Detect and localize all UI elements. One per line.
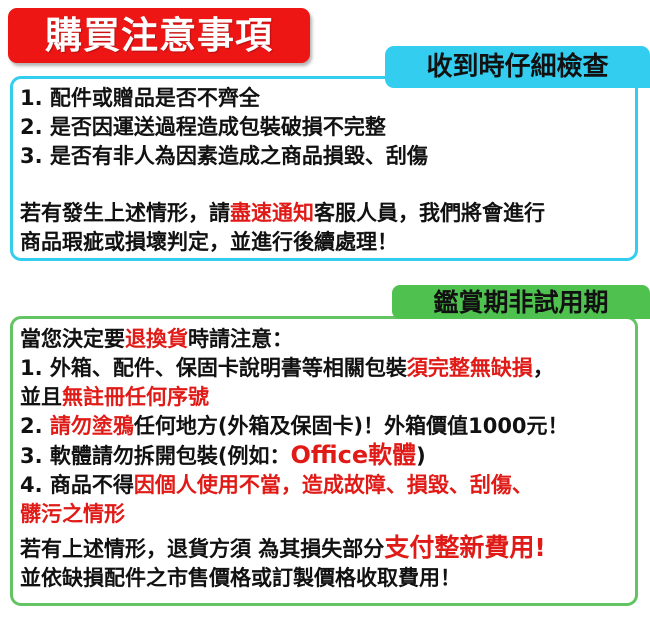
return-section-tab-label: 鑑賞期非試用期: [433, 290, 608, 315]
return-item3-text-a: 3. 軟體請勿拆開包裝(例如：: [20, 444, 291, 468]
return-item4-highlight: 因個人使用不當，造成故障、損毀、刮傷、: [134, 473, 533, 497]
list-item: 4. 商品不得因個人使用不當，造成故障、損毀、刮傷、: [20, 471, 569, 500]
list-item: 1. 配件或贈品是否不齊全: [20, 84, 428, 113]
return-item3-text-b: ): [416, 444, 426, 468]
return-intro-text-a: 當您決定要: [20, 327, 125, 351]
list-item: 2. 是否因運送過程造成包裝破損不完整: [20, 113, 428, 142]
inspect-section-tab: 收到時仔細檢查: [385, 46, 650, 88]
list-item: 2. 請勿塗鴉任何地方(外箱及保固卡)！外箱價值1000元！: [20, 412, 569, 441]
return-item2-text-b: 任何地方(外箱及保固卡)！外箱價值1000元！: [134, 414, 569, 438]
list-item: 1. 外箱、配件、保固卡說明書等相關包裝須完整無缺損，: [20, 354, 569, 383]
return-item1-text-b: ，: [533, 356, 554, 380]
inspect-checklist: 1. 配件或贈品是否不齊全 2. 是否因運送過程造成包裝破損不完整 3. 是否有…: [20, 84, 428, 171]
return-item1-text-a: 1. 外箱、配件、保固卡說明書等相關包裝: [20, 356, 407, 380]
return-item3-highlight: Office軟體: [291, 441, 417, 469]
return-intro: 當您決定要退換貨時請注意：: [20, 325, 569, 354]
purchase-notice-page: 購買注意事項 收到時仔細檢查 1. 配件或贈品是否不齊全 2. 是否因運送過程造…: [0, 0, 650, 622]
return-note-line-1: 若有上述情形，退貨方須 為其損失部分支付整新費用!: [20, 533, 546, 564]
return-item2-text-a: 2.: [20, 414, 50, 438]
return-policy-list: 當您決定要退換貨時請注意： 1. 外箱、配件、保固卡說明書等相關包裝須完整無缺損…: [20, 325, 569, 529]
return-item1-continuation: 並且無註冊任何序號: [20, 383, 569, 412]
return-item4-text-a: 4. 商品不得: [20, 473, 134, 497]
return-intro-highlight: 退換貨: [125, 327, 188, 351]
return-item2-highlight: 請勿塗鴉: [50, 414, 134, 438]
inspect-note-line-2: 商品瑕疵或損壞判定，並進行後續處理！: [20, 228, 545, 257]
return-item1-highlight: 須完整無缺損: [407, 356, 533, 380]
inspect-note: 若有發生上述情形，請盡速通知客服人員，我們將會進行 商品瑕疵或損壞判定，並進行後…: [20, 199, 545, 257]
inspect-note-text-b: 客服人員，我們將會進行: [314, 201, 545, 225]
return-note-text-a: 若有上述情形，退貨方須 為其損失部分: [20, 537, 384, 561]
inspect-section-tab-label: 收到時仔細檢查: [426, 54, 608, 80]
page-title: 購買注意事項: [45, 17, 273, 54]
page-title-badge: 購買注意事項: [8, 8, 310, 63]
return-item4-continuation: 髒污之情形: [20, 500, 569, 529]
return-note: 若有上述情形，退貨方須 為其損失部分支付整新費用! 並依缺損配件之市售價格或訂製…: [20, 533, 546, 593]
return-item1-line2-text: 並且: [20, 385, 62, 409]
inspect-note-text-a: 若有發生上述情形，請: [20, 201, 230, 225]
return-note-line-2: 並依缺損配件之市售價格或訂製價格收取費用！: [20, 564, 546, 593]
return-item1-line2-highlight: 無註冊任何序號: [62, 385, 209, 409]
inspect-note-line-1: 若有發生上述情形，請盡速通知客服人員，我們將會進行: [20, 199, 545, 228]
return-intro-text-b: 時請注意：: [188, 327, 293, 351]
inspect-note-highlight: 盡速通知: [230, 201, 314, 225]
return-section-tab: 鑑賞期非試用期: [392, 285, 650, 319]
list-item: 3. 是否有非人為因素造成之商品損毀、刮傷: [20, 142, 428, 171]
list-item: 3. 軟體請勿拆開包裝(例如：Office軟體): [20, 441, 569, 471]
return-note-highlight: 支付整新費用!: [384, 533, 545, 562]
